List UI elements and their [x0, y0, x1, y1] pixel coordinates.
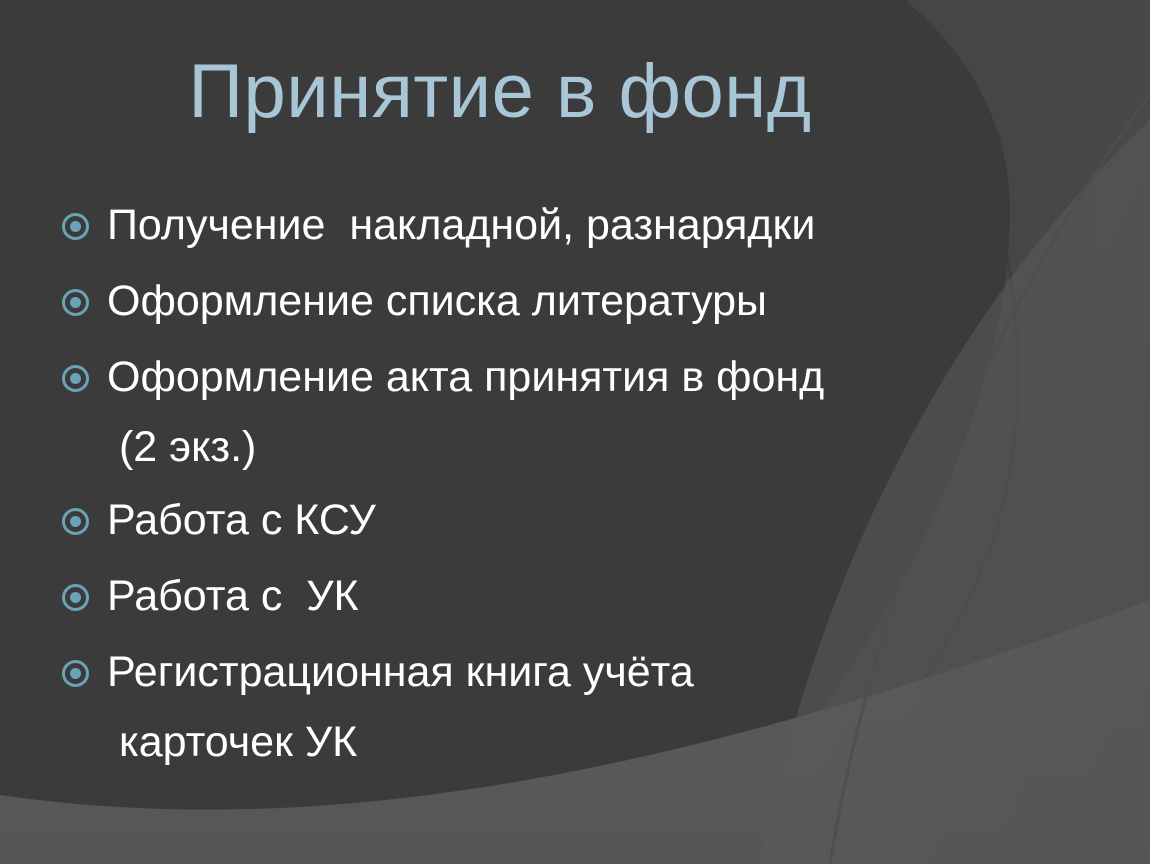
- list-item-continuation: (2 экз.): [62, 422, 1062, 473]
- list-item: Оформление акта принятия в фонд: [62, 352, 1062, 406]
- list-item: Регистрационная книга учёта: [62, 647, 1062, 701]
- list-item: Получение накладной, разнарядки: [62, 200, 1062, 254]
- page-title: Принятие в фонд: [188, 52, 811, 132]
- list-item-continuation-label: карточек УК: [107, 717, 357, 768]
- list-item-continuation-label: (2 экз.): [107, 422, 256, 473]
- list-item: Работа с УК: [62, 571, 1062, 625]
- target-bullet-icon: [62, 213, 89, 240]
- target-bullet-icon: [62, 365, 89, 392]
- list-item-label: Работа с УК: [107, 571, 359, 622]
- target-bullet-icon: [62, 660, 89, 687]
- list-item: Работа с КСУ: [62, 495, 1062, 549]
- list-item-label: Работа с КСУ: [107, 495, 376, 546]
- continuation-indent: [62, 422, 107, 473]
- title-block: Принятие в фонд: [0, 52, 1000, 132]
- continuation-indent: [62, 717, 107, 768]
- list-item: Оформление списка литературы: [62, 276, 1062, 330]
- list-item-label: Оформление акта принятия в фонд: [107, 352, 824, 403]
- target-bullet-icon: [62, 508, 89, 535]
- list-item-label: Регистрационная книга учёта: [107, 647, 694, 698]
- list-item-label: Получение накладной, разнарядки: [107, 200, 815, 251]
- target-bullet-icon: [62, 289, 89, 316]
- list-item-continuation: карточек УК: [62, 717, 1062, 768]
- list-item-label: Оформление списка литературы: [107, 276, 767, 327]
- presentation-slide: Принятие в фонд Получение накладной, раз…: [0, 0, 1150, 864]
- bullet-list: Получение накладной, разнарядки Оформлен…: [62, 200, 1062, 789]
- target-bullet-icon: [62, 584, 89, 611]
